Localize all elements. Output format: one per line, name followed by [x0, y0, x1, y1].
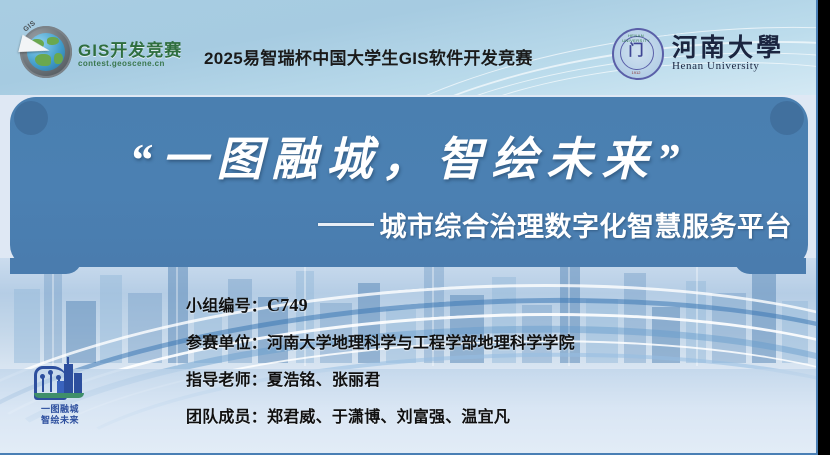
glass-highlight — [52, 258, 54, 366]
university-name-cn: 河南大學 — [672, 28, 784, 64]
building — [752, 269, 776, 363]
info-label: 指导老师： — [186, 372, 267, 389]
info-value: 夏浩铭、张丽君 — [267, 372, 380, 389]
seal-arc-bottom-text: 1912 — [624, 70, 648, 75]
building — [782, 301, 808, 363]
building — [100, 275, 122, 363]
info-label: 参赛单位： — [186, 335, 267, 352]
header-band: GIS GIS开发竞赛 contest.geoscene.cn 2025易智瑞杯… — [0, 0, 818, 95]
gis-logo-name: GIS开发竞赛 — [78, 36, 182, 61]
building-shape — [74, 373, 82, 394]
building — [128, 293, 162, 363]
gis-contest-logo: GIS GIS开发竞赛 contest.geoscene.cn — [14, 22, 194, 84]
tower-shape — [64, 364, 73, 394]
ground-shape — [34, 393, 84, 398]
building — [168, 263, 188, 363]
subtitle: 城市综合治理数字化智慧服务平台 — [380, 205, 793, 244]
university-seal-icon: HENAN UNIVERSITY 门 1912 — [612, 28, 664, 80]
title-panel: “一图融城，智绘未来” 城市综合治理数字化智慧服务平台 — [10, 97, 808, 267]
globe-land — [54, 53, 63, 64]
project-logo-line2: 智绘未来 — [24, 415, 96, 426]
network-node — [48, 370, 53, 375]
building — [652, 307, 680, 363]
slide-canvas: GIS GIS开发竞赛 contest.geoscene.cn 2025易智瑞杯… — [0, 0, 830, 455]
project-logo: 一图融城 智绘未来 — [24, 364, 96, 426]
info-row-members: 团队成员：郑君威、于潇博、刘富强、温宜凡 — [186, 403, 575, 427]
team-info-block: 小组编号：C749 参赛单位：河南大学地理科学与工程学部地理科学学院 指导老师：… — [186, 292, 575, 427]
info-value: C749 — [267, 295, 308, 315]
info-label: 小组编号： — [186, 298, 267, 315]
network-stem — [50, 374, 52, 392]
globe-plane-icon: GIS — [14, 22, 78, 84]
subtitle-row: 城市综合治理数字化智慧服务平台 — [318, 205, 793, 244]
university-logo: HENAN UNIVERSITY 门 1912 河南大學 Henan Unive… — [612, 26, 788, 82]
building — [624, 273, 646, 363]
building — [66, 301, 96, 363]
project-logo-line1: 一图融城 — [24, 404, 96, 415]
subtitle-dash — [318, 223, 374, 226]
competition-title: 2025易智瑞杯中国大学生GIS软件开发竞赛 — [204, 44, 533, 69]
main-title: “一图融城，智绘未来” — [10, 123, 808, 189]
network-node — [56, 375, 61, 380]
project-logo-text: 一图融城 智绘未来 — [24, 404, 96, 426]
seal-gate-glyph: 门 — [627, 42, 645, 59]
info-row-group-number: 小组编号：C749 — [186, 292, 575, 316]
gis-logo-url: contest.geoscene.cn — [78, 59, 165, 68]
glass-highlight — [176, 258, 178, 366]
info-value: 河南大学地理科学与工程学部地理科学学院 — [267, 335, 575, 352]
info-value: 郑君威、于潇博、刘富强、温宜凡 — [267, 409, 510, 426]
university-name-en: Henan University — [672, 60, 760, 72]
info-label: 团队成员： — [186, 409, 267, 426]
right-gutter — [818, 0, 830, 455]
network-stem — [42, 378, 44, 392]
slide-page: GIS GIS开发竞赛 contest.geoscene.cn 2025易智瑞杯… — [0, 0, 818, 455]
network-node — [40, 374, 45, 379]
info-row-advisors: 指导老师：夏浩铭、张丽君 — [186, 366, 575, 390]
city-network-icon — [34, 364, 86, 402]
building — [712, 293, 746, 363]
info-row-institution: 参赛单位：河南大学地理科学与工程学部地理科学学院 — [186, 329, 575, 353]
building — [14, 289, 40, 363]
building — [586, 299, 618, 363]
glass-highlight — [696, 258, 698, 366]
